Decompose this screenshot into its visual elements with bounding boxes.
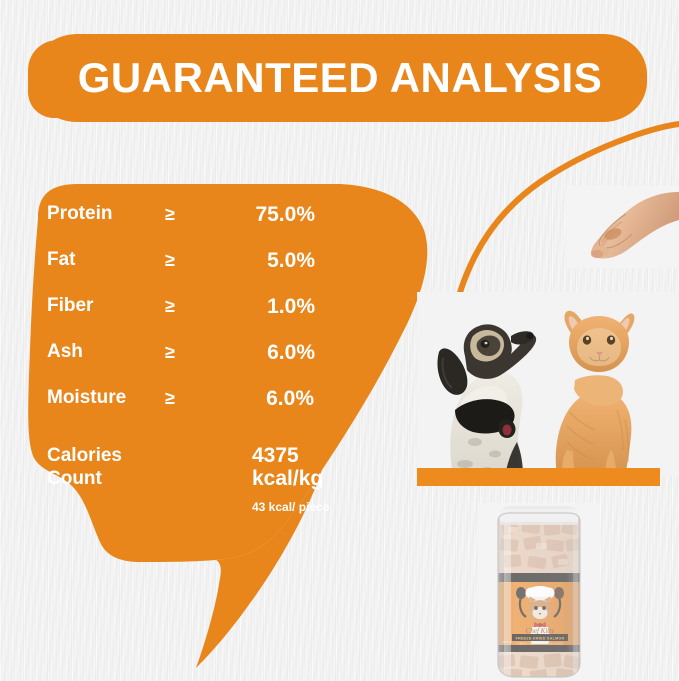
dog-and-cat-looking-up-photo xyxy=(417,292,679,476)
guaranteed-analysis-table: Protein ≥ 75.0% Fat ≥ 5.0% Fiber ≥ 1.0% … xyxy=(47,203,315,433)
nutrient-operator: ≥ xyxy=(165,296,175,317)
table-row: Protein ≥ 75.0% xyxy=(47,203,315,249)
page-title: GUARANTEED ANALYSIS xyxy=(33,34,647,122)
table-row: Ash ≥ 6.0% xyxy=(47,341,315,387)
calories-per-piece-note: 43 kcal/ piece xyxy=(252,500,329,514)
nutrient-value: 1.0% xyxy=(195,295,315,319)
infographic-page: GUARANTEED ANALYSIS Protein ≥ 75.0% Fat … xyxy=(0,0,679,681)
nutrient-value: 75.0% xyxy=(195,203,315,227)
nutrient-name: Protein xyxy=(47,203,112,225)
nutrient-operator: ≥ xyxy=(165,342,175,363)
hand-holding-treat-photo xyxy=(566,186,679,268)
nutrient-value: 6.0% xyxy=(195,341,315,365)
nutrient-name: Moisture xyxy=(47,387,126,409)
nutrient-operator: ≥ xyxy=(165,250,175,271)
nutrient-name: Fat xyxy=(47,249,76,271)
calories-value: 4375 kcal/kg xyxy=(252,444,323,490)
nutrient-name: Ash xyxy=(47,341,83,363)
calories-label: Calories Count xyxy=(47,444,122,490)
nutrient-operator: ≥ xyxy=(165,204,175,225)
nutrient-name: Fiber xyxy=(47,295,93,317)
table-row: Fat ≥ 5.0% xyxy=(47,249,315,295)
pets-photo-underline-bar xyxy=(417,468,660,486)
product-jar-photo: Chef Kitty FREEZE-DRIED SALMON TURKEY TR… xyxy=(478,503,600,681)
nutrient-operator: ≥ xyxy=(165,388,175,409)
nutrient-value: 6.0% xyxy=(194,387,315,411)
table-row: Moisture ≥ 6.0% xyxy=(47,387,315,433)
nutrient-value: 5.0% xyxy=(195,249,315,273)
table-row: Fiber ≥ 1.0% xyxy=(47,295,315,341)
